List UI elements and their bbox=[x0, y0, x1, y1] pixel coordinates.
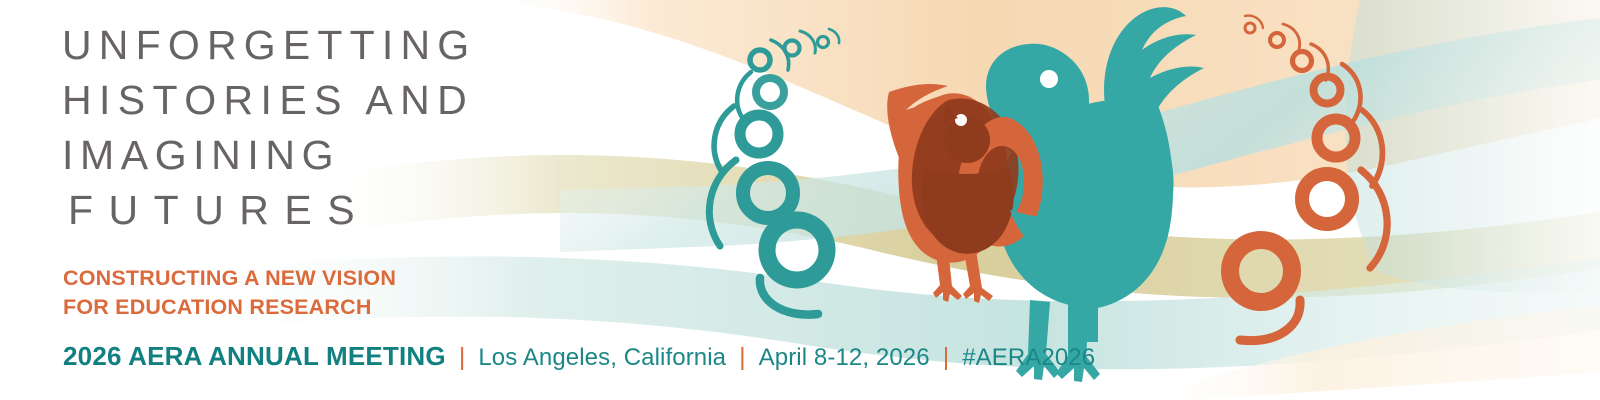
teal-breast-circle bbox=[1035, 106, 1085, 156]
aera-2026-banner: UNFORGETTING HISTORIES AND IMAGINING FUT… bbox=[0, 0, 1600, 400]
meeting-hashtag: #AERA2026 bbox=[962, 344, 1095, 372]
separator-2: | bbox=[739, 343, 746, 372]
subhead: CONSTRUCTING A NEW VISION FOR EDUCATION … bbox=[63, 264, 503, 322]
orange-bird-eye bbox=[955, 114, 967, 126]
orange-head-circle bbox=[944, 117, 990, 163]
headline-line-1: UNFORGETTING bbox=[62, 18, 492, 73]
orange-leg-right bbox=[963, 246, 993, 303]
subhead-line-2: FOR EDUCATION RESEARCH bbox=[63, 293, 503, 322]
headline: UNFORGETTING HISTORIES AND IMAGINING FUT… bbox=[62, 18, 492, 238]
banner-text-block: UNFORGETTING HISTORIES AND IMAGINING FUT… bbox=[0, 0, 520, 400]
teal-bird-eye bbox=[1040, 70, 1058, 88]
headline-line-3: IMAGINING bbox=[62, 128, 492, 183]
meeting-dates: April 8-12, 2026 bbox=[759, 344, 930, 372]
separator-3: | bbox=[943, 343, 950, 372]
headline-line-4: FUTURES bbox=[62, 183, 492, 238]
headline-line-2: HISTORIES AND bbox=[62, 73, 492, 128]
subhead-line-1: CONSTRUCTING A NEW VISION bbox=[63, 264, 503, 293]
